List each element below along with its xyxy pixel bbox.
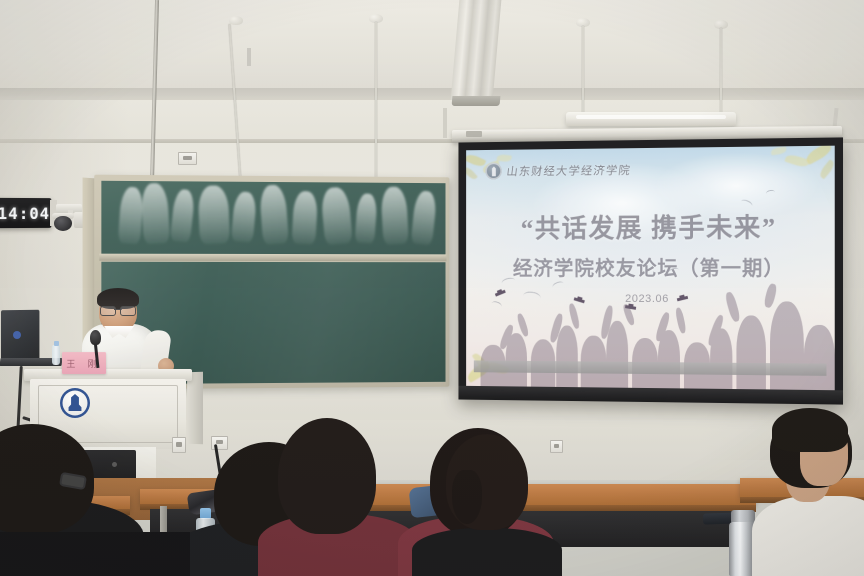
student-mid-left — [278, 418, 376, 534]
student-right-hair — [772, 408, 848, 452]
classroom-photo: 14:04 — [0, 0, 864, 576]
slide-foliage-top-right — [740, 146, 835, 210]
student-right-shoulders — [752, 496, 864, 576]
projection-screen[interactable]: 山东财经大学经济学院 “共话发展 携手未来” 经济学院校友论坛（第一期） 202… — [458, 137, 843, 404]
university-emblem-icon — [60, 388, 90, 418]
ceiling-hook — [247, 48, 251, 66]
digital-wall-clock: 14:04 — [0, 198, 51, 228]
student-ponytail-hair-tie — [452, 470, 482, 524]
wall-socket-upper[interactable] — [178, 152, 197, 165]
wall-socket-1[interactable] — [172, 437, 186, 453]
speaker-name-card: 王 刚 — [62, 352, 106, 374]
podium-side — [187, 372, 203, 445]
microphone-icon — [90, 330, 101, 345]
lamp-mount-left-a — [229, 16, 243, 25]
blackboard-upper-panel — [101, 181, 445, 255]
eyeglasses-icon — [100, 306, 136, 314]
slide-title: “共话发展 携手未来” — [466, 207, 835, 246]
university-crest-icon — [486, 163, 502, 180]
student-ponytail-shoulders — [412, 528, 562, 576]
foreground-dark-mass — [0, 532, 190, 576]
clock-time-display: 14:04 — [0, 202, 48, 224]
slide-foliage-top-left — [466, 152, 538, 209]
screen-housing-tab — [466, 131, 482, 137]
blackboard-chalk-ledge — [99, 254, 446, 262]
slide-header: 山东财经大学经济学院 — [486, 161, 632, 179]
security-dome-camera-icon — [54, 216, 72, 231]
ceiling-duct-end — [452, 96, 501, 106]
screen-bracket-left — [443, 108, 447, 138]
podium-water-bottle — [52, 345, 60, 365]
slide-org-name: 山东财经大学经济学院 — [506, 162, 632, 179]
slide-canvas: 山东财经大学经济学院 “共话发展 携手未来” 经济学院校友论坛（第一期） 202… — [466, 146, 835, 391]
slide-subtitle: 经济学院校友论坛（第一期） — [466, 252, 835, 282]
ceiling-duct — [451, 0, 502, 100]
speaker-name-card-text: 王 刚 — [62, 357, 106, 370]
lamp-rod-right-a — [582, 26, 584, 114]
wall-switch-right[interactable] — [550, 440, 563, 453]
laptop-sticker — [13, 331, 21, 339]
